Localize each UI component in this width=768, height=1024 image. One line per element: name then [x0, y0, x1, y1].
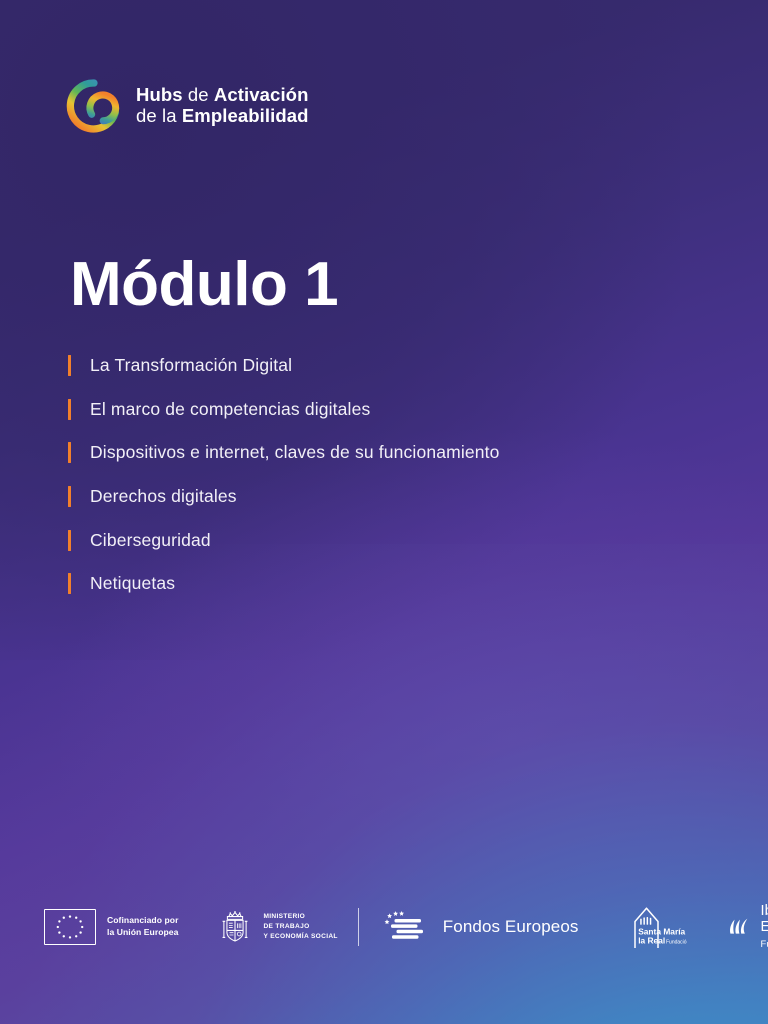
- spain-coat-of-arms-icon: [216, 908, 254, 946]
- bullet-bar-icon: [68, 442, 71, 463]
- iberdrola-logo: Iberdrola España Fundación: [727, 903, 768, 952]
- topic-label: Netiquetas: [90, 573, 175, 594]
- list-item: Dispositivos e internet, claves de su fu…: [68, 431, 708, 475]
- list-item: Derechos digitales: [68, 475, 708, 519]
- brand-hubs: Hubs: [136, 84, 183, 105]
- eu-caption-line1: Cofinanciado por: [107, 915, 178, 927]
- brand-de: de: [183, 84, 214, 105]
- bullet-bar-icon: [68, 486, 71, 507]
- page-title: Módulo 1: [70, 252, 338, 317]
- topic-label: El marco de competencias digitales: [90, 399, 370, 420]
- eu-funding-logo: Cofinanciado por la Unión Europea: [44, 909, 178, 945]
- fondos-europeos-stars-icon: [384, 909, 432, 945]
- bullet-bar-icon: [68, 399, 71, 420]
- eu-flag-icon: [44, 909, 96, 945]
- ministerio-caption: MINISTERIO DE TRABAJO Y ECONOMÍA SOCIAL: [263, 912, 337, 942]
- slide-root: Hubs de Activación de la Empleabilidad M…: [0, 0, 768, 1024]
- bullet-bar-icon: [68, 530, 71, 551]
- topic-label: Derechos digitales: [90, 486, 237, 507]
- topic-list: La Transformación Digital El marco de co…: [68, 344, 708, 606]
- santa-maria-line3: Fundación: [666, 939, 687, 945]
- list-item: La Transformación Digital: [68, 344, 708, 388]
- list-item: El marco de competencias digitales: [68, 388, 708, 432]
- arch-building-icon: Santa María la Real Fundación: [625, 905, 687, 949]
- ministerio-line2: DE TRABAJO: [263, 922, 337, 932]
- brand-de-la: de la: [136, 105, 182, 126]
- ministerio-line1: MINISTERIO: [263, 912, 337, 922]
- brand-logo: Hubs de Activación de la Empleabilidad: [66, 78, 309, 134]
- ministerio-line3: Y ECONOMÍA SOCIAL: [263, 932, 337, 942]
- brand-activacion: Activación: [214, 84, 309, 105]
- iberdrola-line2: España: [761, 919, 768, 935]
- topic-label: Dispositivos e internet, claves de su fu…: [90, 442, 500, 463]
- brand-empleabilidad: Empleabilidad: [182, 105, 309, 126]
- iberdrola-line3: Fundación: [761, 937, 768, 951]
- iberdrola-line1: Iberdrola: [761, 903, 768, 919]
- bullet-bar-icon: [68, 355, 71, 376]
- fondos-europeos-label: Fondos Europeos: [443, 917, 579, 937]
- ministerio-logo: MINISTERIO DE TRABAJO Y ECONOMÍA SOCIAL: [216, 908, 337, 946]
- santa-maria-la-real-logo: Santa María la Real Fundación: [625, 905, 687, 949]
- spiral-ring-icon: [66, 78, 122, 134]
- topic-label: Ciberseguridad: [90, 530, 211, 551]
- footer-logo-bar: Cofinanciado por la Unión Europea: [0, 896, 768, 958]
- brand-line-2: de la Empleabilidad: [136, 106, 309, 127]
- eu-caption-line2: la Unión Europea: [107, 927, 178, 939]
- santa-maria-line2: la Real: [638, 935, 665, 945]
- bullet-bar-icon: [68, 573, 71, 594]
- eu-caption: Cofinanciado por la Unión Europea: [107, 915, 178, 939]
- list-item: Ciberseguridad: [68, 518, 708, 562]
- topic-label: La Transformación Digital: [90, 355, 292, 376]
- footer-divider: [358, 908, 359, 946]
- iberdrola-flames-icon: [727, 914, 753, 940]
- brand-wordmark: Hubs de Activación de la Empleabilidad: [136, 85, 309, 126]
- brand-line-1: Hubs de Activación: [136, 85, 309, 106]
- fondos-europeos-logo: Fondos Europeos: [384, 909, 579, 945]
- iberdrola-caption: Iberdrola España Fundación: [761, 903, 768, 952]
- list-item: Netiquetas: [68, 562, 708, 606]
